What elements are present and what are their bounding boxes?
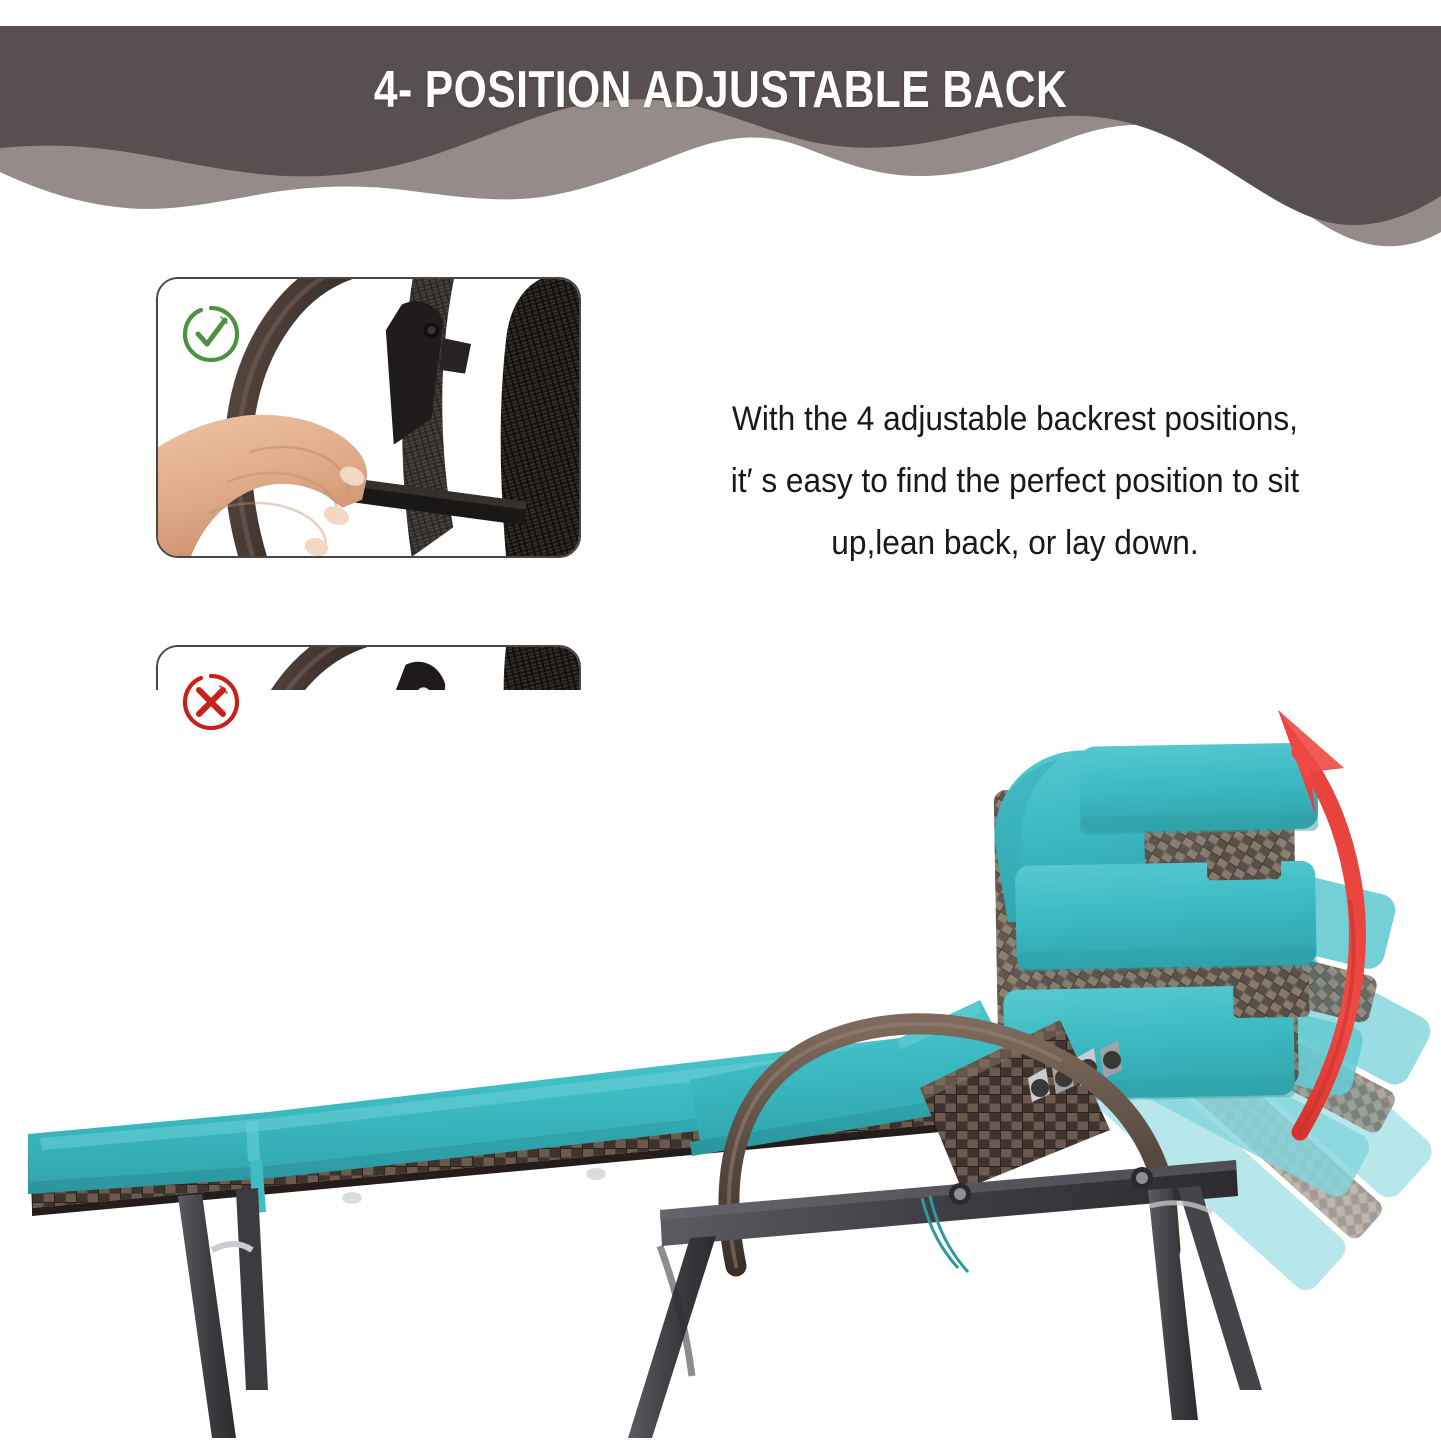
description-line-3: up,lean back, or lay down. [648,512,1383,574]
infographic-page: 4- POSITION ADJUSTABLE BACK [0,0,1441,1441]
header-wave-graphic [0,0,1441,260]
description-line-2: it′ s easy to find the perfect position … [648,450,1383,512]
instruction-panel-correct [156,277,581,558]
description-line-1: With the 4 adjustable backrest positions… [648,388,1383,450]
green-check-icon [180,303,242,365]
page-title: 4- POSITION ADJUSTABLE BACK [130,60,1312,120]
description-text: With the 4 adjustable backrest positions… [648,388,1383,574]
product-illustration [0,690,1441,1441]
header-banner: 4- POSITION ADJUSTABLE BACK [0,0,1441,260]
red-cross-icon [180,671,242,733]
